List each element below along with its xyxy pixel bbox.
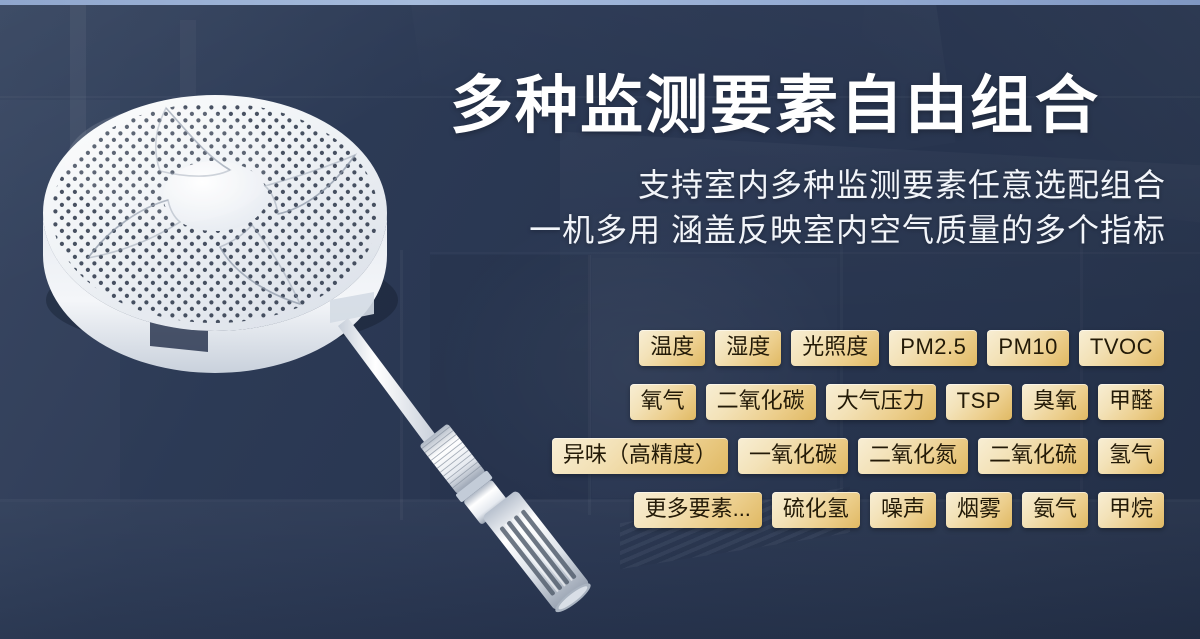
subtitle-line-2: 一机多用 涵盖反映室内空气质量的多个指标 (406, 208, 1166, 253)
parameter-tag[interactable]: 更多要素... (634, 492, 762, 528)
parameter-tag[interactable]: TSP (946, 384, 1012, 420)
subtitle-block: 支持室内多种监测要素任意选配组合 一机多用 涵盖反映室内空气质量的多个指标 (406, 163, 1166, 254)
parameter-tag[interactable]: 噪声 (870, 492, 936, 528)
tag-row-3: 异味（高精度）一氧化碳二氧化氮二氧化硫氢气 (464, 438, 1164, 474)
monitoring-parameter-tag-list: 温度湿度光照度PM2.5PM10TVOC氧气二氧化碳大气压力TSP臭氧甲醛异味（… (464, 330, 1164, 546)
parameter-tag[interactable]: 温度 (639, 330, 705, 366)
probe-rod (338, 318, 444, 454)
parameter-tag[interactable]: 二氧化硫 (978, 438, 1088, 474)
top-accent-strip (0, 0, 1200, 5)
parameter-tag[interactable]: 臭氧 (1022, 384, 1088, 420)
subtitle-line-1: 支持室内多种监测要素任意选配组合 (406, 163, 1166, 208)
parameter-tag[interactable]: 异味（高精度） (552, 438, 728, 474)
parameter-tag[interactable]: 二氧化氮 (858, 438, 968, 474)
parameter-tag[interactable]: TVOC (1079, 330, 1164, 366)
parameter-tag[interactable]: 烟雾 (946, 492, 1012, 528)
tag-row-4: 更多要素...硫化氢噪声烟雾氨气甲烷 (464, 492, 1164, 528)
parameter-tag[interactable]: 光照度 (791, 330, 879, 366)
parameter-tag[interactable]: 氨气 (1022, 492, 1088, 528)
parameter-tag[interactable]: 二氧化碳 (706, 384, 816, 420)
page-title: 多种监测要素自由组合 (450, 73, 1170, 139)
parameter-tag[interactable]: 硫化氢 (772, 492, 860, 528)
product-promo-banner: 多种监测要素自由组合 支持室内多种监测要素任意选配组合 一机多用 涵盖反映室内空… (0, 0, 1200, 639)
parameter-tag[interactable]: 氢气 (1098, 438, 1164, 474)
tag-row-2: 氧气二氧化碳大气压力TSP臭氧甲醛 (464, 384, 1164, 420)
parameter-tag[interactable]: 氧气 (630, 384, 696, 420)
parameter-tag[interactable]: 甲烷 (1098, 492, 1164, 528)
parameter-tag[interactable]: 一氧化碳 (738, 438, 848, 474)
parameter-tag[interactable]: 甲醛 (1098, 384, 1164, 420)
parameter-tag[interactable]: PM10 (987, 330, 1068, 366)
tag-row-1: 温度湿度光照度PM2.5PM10TVOC (464, 330, 1164, 366)
parameter-tag[interactable]: 大气压力 (826, 384, 936, 420)
parameter-tag[interactable]: PM2.5 (889, 330, 977, 366)
parameter-tag[interactable]: 湿度 (715, 330, 781, 366)
